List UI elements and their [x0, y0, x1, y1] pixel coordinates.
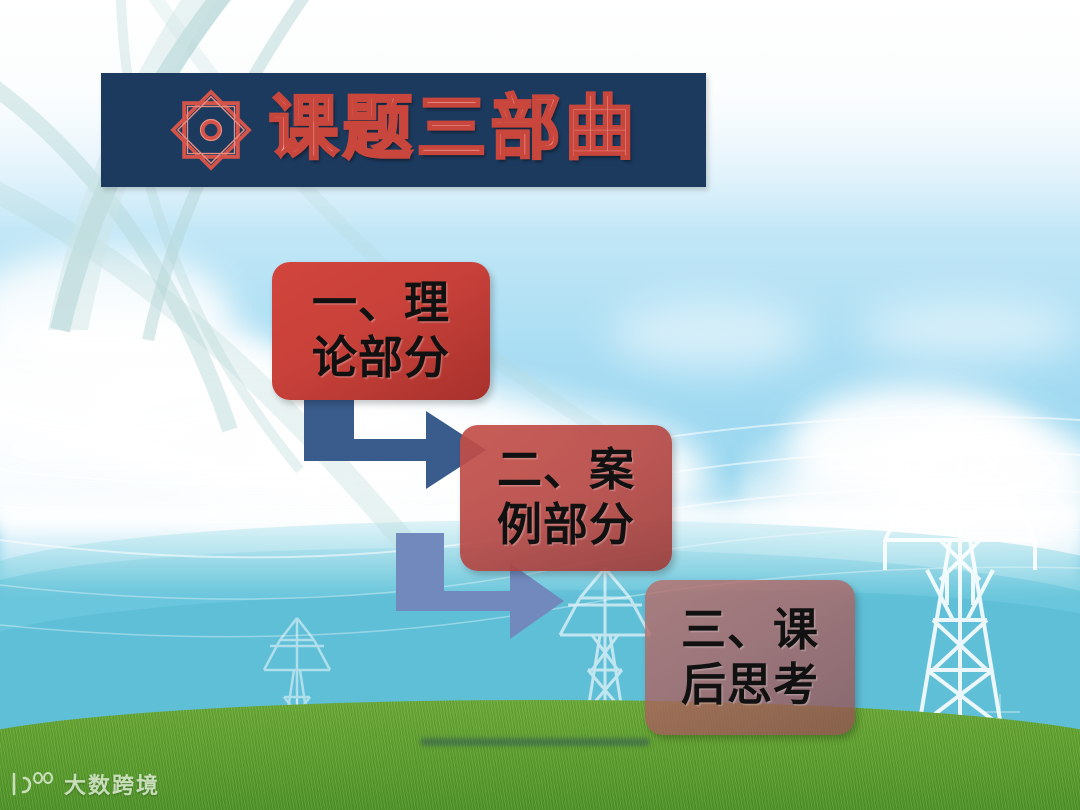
stage-box-cases[interactable]: 二、案 例部分 — [460, 425, 672, 571]
stage-box-reflection[interactable]: 三、课 后思考 — [645, 580, 855, 735]
slide-title-bar: 课题三部曲 — [101, 73, 706, 187]
page-title: 课题三部曲 — [269, 95, 639, 165]
stage-box-label: 一、理 论部分 — [312, 276, 450, 386]
stage-box-theory[interactable]: 一、理 论部分 — [272, 262, 490, 400]
cloud-icon — [610, 300, 810, 370]
eight-point-star-ornament-icon — [169, 88, 253, 172]
watermark: 大数跨境 — [10, 768, 160, 800]
stage-box-label: 二、案 例部分 — [497, 443, 635, 553]
kuajing-logo-icon — [10, 771, 56, 797]
grass-texture — [0, 700, 1080, 810]
cloud-icon — [860, 300, 1080, 360]
slide-canvas: 课题三部曲 一、理 论部分 二、案 例部分 三、课 后思考 — [0, 0, 1080, 810]
distant-treeline — [420, 738, 650, 746]
watermark-text: 大数跨境 — [64, 768, 160, 800]
stage-box-label: 三、课 后思考 — [681, 603, 819, 713]
